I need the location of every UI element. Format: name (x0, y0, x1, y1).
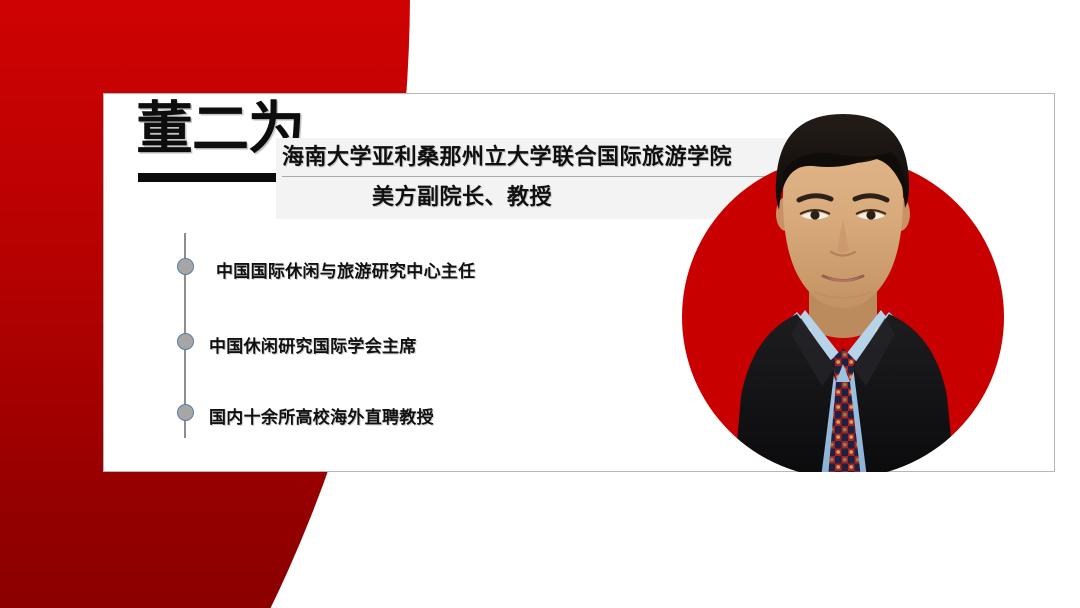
timeline-dot-icon (177, 333, 194, 350)
speaker-affiliation: 海南大学亚利桑那州立大学联合国际旅游学院 (282, 142, 732, 171)
portrait-illustration (679, 96, 1009, 472)
speaker-portrait (679, 96, 1009, 472)
timeline-dot-icon (177, 258, 194, 275)
timeline-dot-icon (177, 404, 194, 421)
credential-label: 中国休闲研究国际学会主席 (209, 332, 417, 357)
credential-label: 国内十余所高校海外直聘教授 (209, 403, 434, 428)
speaker-position: 美方副院长、教授 (372, 182, 552, 211)
speaker-info-card: 董二为 海南大学亚利桑那州立大学联合国际旅游学院 美方副院长、教授 中国国际休闲… (103, 93, 1055, 472)
credential-label: 中国国际休闲与旅游研究中心主任 (216, 257, 476, 282)
slide-canvas: 董二为 海南大学亚利桑那州立大学联合国际旅游学院 美方副院长、教授 中国国际休闲… (0, 0, 1080, 608)
name-underline-bar (138, 173, 277, 182)
